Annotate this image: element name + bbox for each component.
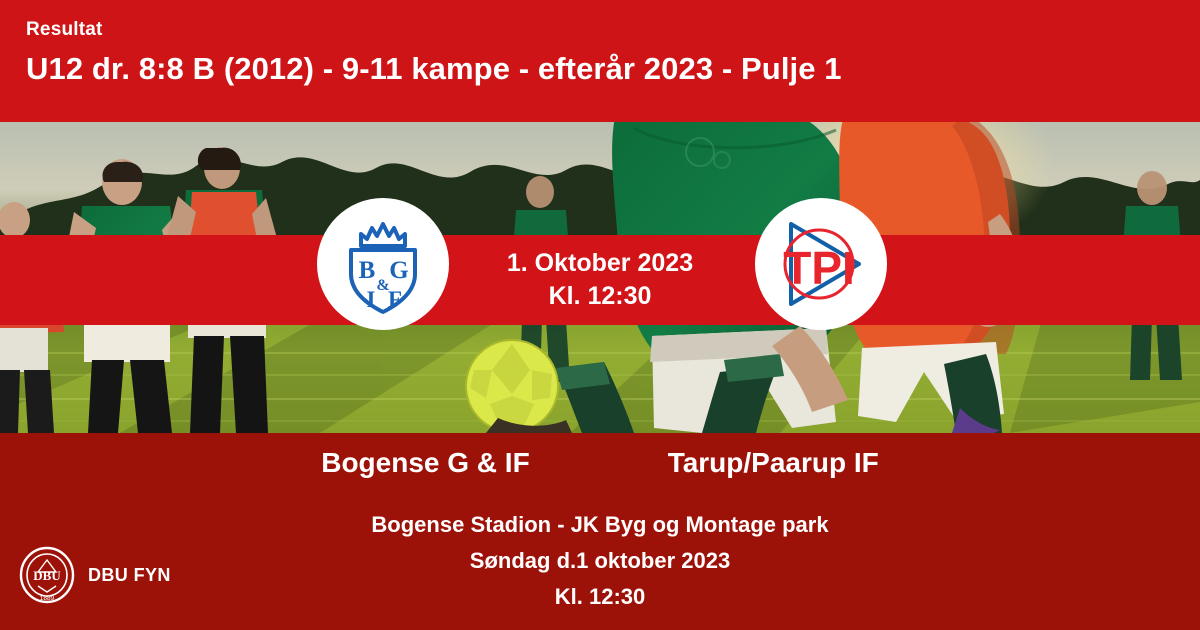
- home-team-name: Bogense G & IF: [321, 447, 529, 479]
- match-date: 1. Oktober 2023: [507, 247, 693, 280]
- bogense-g-if-crest-icon: B G & I F: [331, 212, 435, 316]
- venue-date: Søndag d.1 oktober 2023: [0, 543, 1200, 579]
- footer-bar: Bogense G & IF Tarup/Paarup IF Bogense S…: [0, 433, 1200, 630]
- home-team-logo-badge: B G & I F: [317, 198, 449, 330]
- crest-letter-g: G: [389, 257, 408, 284]
- crest-letter-f: F: [388, 287, 402, 312]
- tarup-paarup-if-crest-icon: TPI: [769, 212, 873, 316]
- crest-letters-tpi: TPI: [783, 242, 855, 294]
- away-team-name: Tarup/Paarup IF: [668, 447, 879, 479]
- venue-location: Bogense Stadion - JK Byg og Montage park: [0, 507, 1200, 543]
- venue-details: Bogense Stadion - JK Byg og Montage park…: [0, 507, 1200, 615]
- team-names-row: Bogense G & IF Tarup/Paarup IF: [0, 447, 1200, 479]
- header-bar: Resultat U12 dr. 8:8 B (2012) - 9-11 kam…: [0, 0, 1200, 122]
- crest-letter-b: B: [359, 257, 376, 284]
- match-date-banner: 1. Oktober 2023 Kl. 12:30: [0, 235, 1200, 325]
- dbu-seal-year: 1889: [40, 595, 55, 602]
- dbu-brand-label: DBU FYN: [88, 565, 171, 586]
- dbu-seal-icon: DBU 1889: [18, 546, 76, 604]
- dbu-seal-center-text: DBU: [33, 568, 61, 583]
- page-title: U12 dr. 8:8 B (2012) - 9-11 kampe - efte…: [26, 52, 1200, 86]
- match-time: Kl. 12:30: [507, 280, 693, 313]
- header-kicker: Resultat: [26, 20, 1200, 39]
- dbu-brand: DBU 1889 DBU FYN: [18, 546, 171, 604]
- away-team-logo-badge: TPI: [755, 198, 887, 330]
- match-result-poster: Resultat U12 dr. 8:8 B (2012) - 9-11 kam…: [0, 0, 1200, 630]
- crest-letter-i: I: [367, 287, 376, 312]
- venue-time: Kl. 12:30: [0, 579, 1200, 615]
